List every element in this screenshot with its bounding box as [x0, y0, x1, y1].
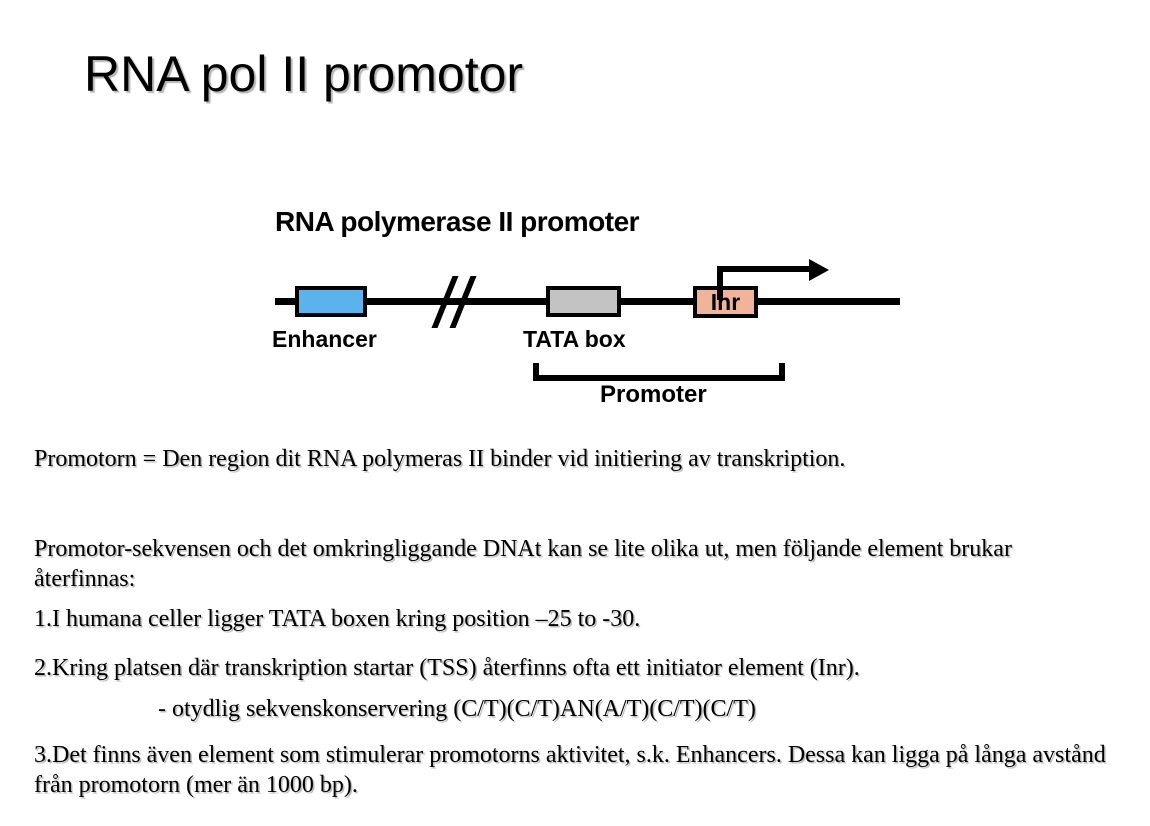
list-item-3: 3.Det finns även element som stimulerar … — [34, 740, 1129, 800]
list-item-2-subnote: - otydlig sekvenskonservering (C/T)(C/T)… — [158, 694, 1118, 724]
list-item-2: 2.Kring platsen där transkription starta… — [34, 653, 1114, 683]
page-title: RNA pol II promotor — [84, 45, 523, 103]
slide-canvas: RNA pol II promotor RNA polymerase II pr… — [0, 0, 1150, 826]
arrow-stem-horizontal — [717, 266, 815, 272]
promoter-bracket-label: Promoter — [600, 381, 707, 409]
promoter-span-bracket — [533, 363, 785, 381]
diagram-title: RNA polymerase II promoter — [275, 206, 639, 238]
intro-paragraph: Promotor-sekvensen och det omkringliggan… — [34, 534, 1099, 594]
enhancer-label: Enhancer — [272, 326, 377, 353]
promoter-diagram: RNA polymerase II promoter Inr Enhancer … — [255, 198, 915, 418]
transcription-start-arrow-icon — [717, 260, 847, 300]
tata-box — [546, 286, 621, 317]
list-item-1: 1.I humana celler ligger TATA boxen krin… — [34, 604, 1114, 634]
tata-box-label: TATA box — [523, 326, 626, 353]
definition-paragraph: Promotorn = Den region dit RNA polymeras… — [34, 444, 1114, 474]
enhancer-box — [295, 286, 367, 317]
arrow-head — [809, 259, 829, 281]
